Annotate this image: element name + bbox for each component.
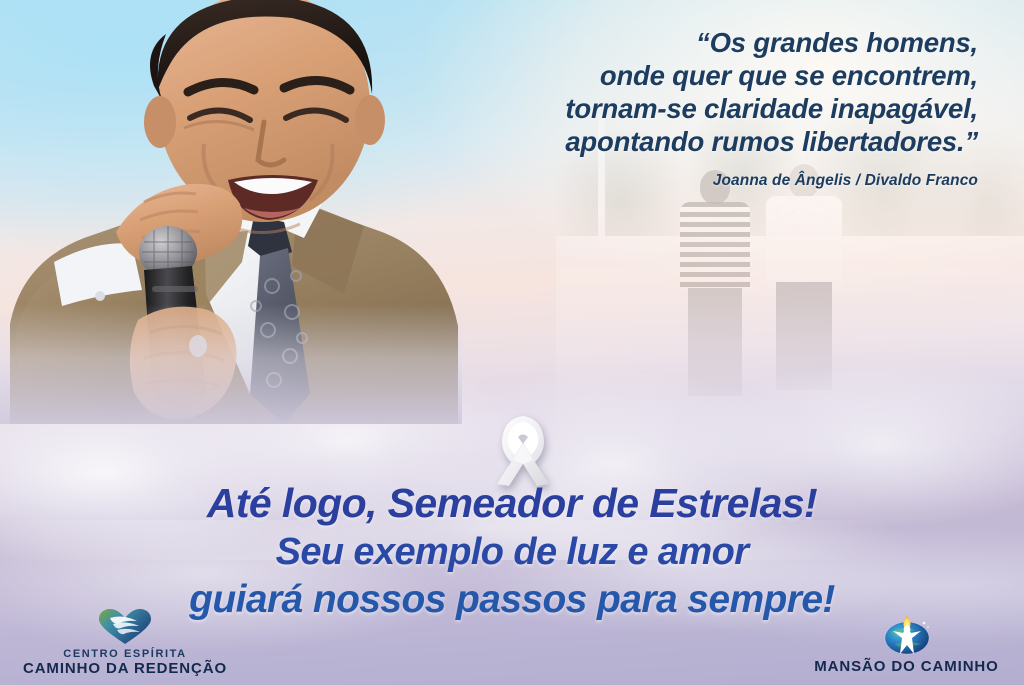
heart-hands-logo-icon	[97, 608, 153, 646]
logo-mansao-do-caminho: MANSÃO DO CAMINHO	[799, 614, 1014, 675]
headline-line-1: Até logo, Semeador de Estrelas!	[0, 483, 1024, 524]
figure-torso	[766, 196, 842, 288]
quote-line-4: apontando rumos libertadores.”	[358, 125, 978, 158]
logo-left-line-2: CAMINHO DA REDENÇÃO	[10, 660, 240, 677]
logo-left-line-1: CENTRO ESPÍRITA	[10, 648, 240, 660]
quote-author: Joanna de Ângelis / Divaldo Franco	[358, 172, 978, 190]
logo-centro-espirita: CENTRO ESPÍRITA CAMINHO DA REDENÇÃO	[10, 608, 240, 677]
figure-legs	[776, 282, 832, 390]
quote-line-3: tornam-se claridade inapagável,	[358, 92, 978, 125]
globe-figure-logo-icon	[881, 614, 933, 656]
mourning-ribbon-icon	[487, 410, 559, 488]
background-figure-white	[766, 164, 842, 396]
headline-line-2: Seu exemplo de luz e amor	[0, 533, 1024, 571]
figure-torso	[680, 202, 750, 290]
quote-line-1: “Os grandes homens,	[358, 26, 978, 59]
background-figure-striped	[680, 170, 750, 395]
headline-block: Até logo, Semeador de Estrelas! Seu exem…	[0, 483, 1024, 619]
quote-line-2: onde quer que se encontrem,	[358, 59, 978, 92]
memorial-poster: “Os grandes homens, onde quer que se enc…	[0, 0, 1024, 685]
figure-legs	[688, 288, 742, 396]
logo-right-line-2: MANSÃO DO CAMINHO	[799, 658, 1014, 675]
quote-block: “Os grandes homens, onde quer que se enc…	[358, 26, 978, 190]
